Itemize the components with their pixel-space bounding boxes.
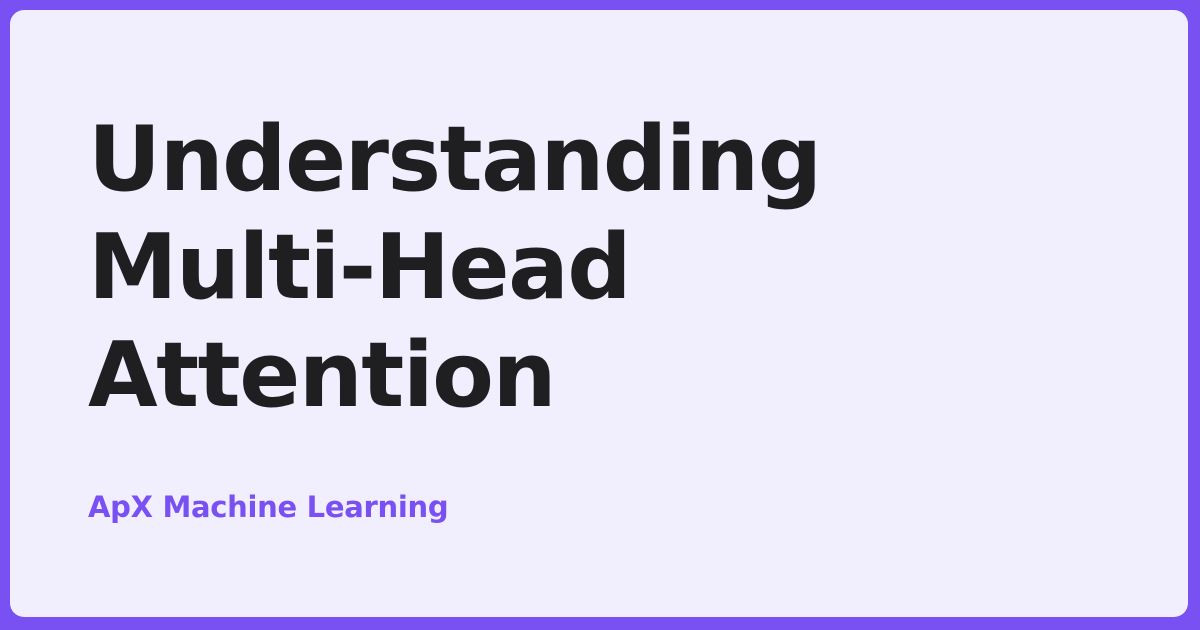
card-surface: Understanding Multi-Head Attention ApX M… bbox=[10, 10, 1188, 617]
page-title: Understanding Multi-Head Attention bbox=[88, 106, 968, 430]
open-graph-card: Understanding Multi-Head Attention ApX M… bbox=[0, 0, 1200, 630]
footer-block: ApX Machine Learning bbox=[88, 489, 448, 525]
title-block: Understanding Multi-Head Attention bbox=[88, 106, 1110, 430]
brand-name: ApX Machine Learning bbox=[88, 489, 448, 525]
